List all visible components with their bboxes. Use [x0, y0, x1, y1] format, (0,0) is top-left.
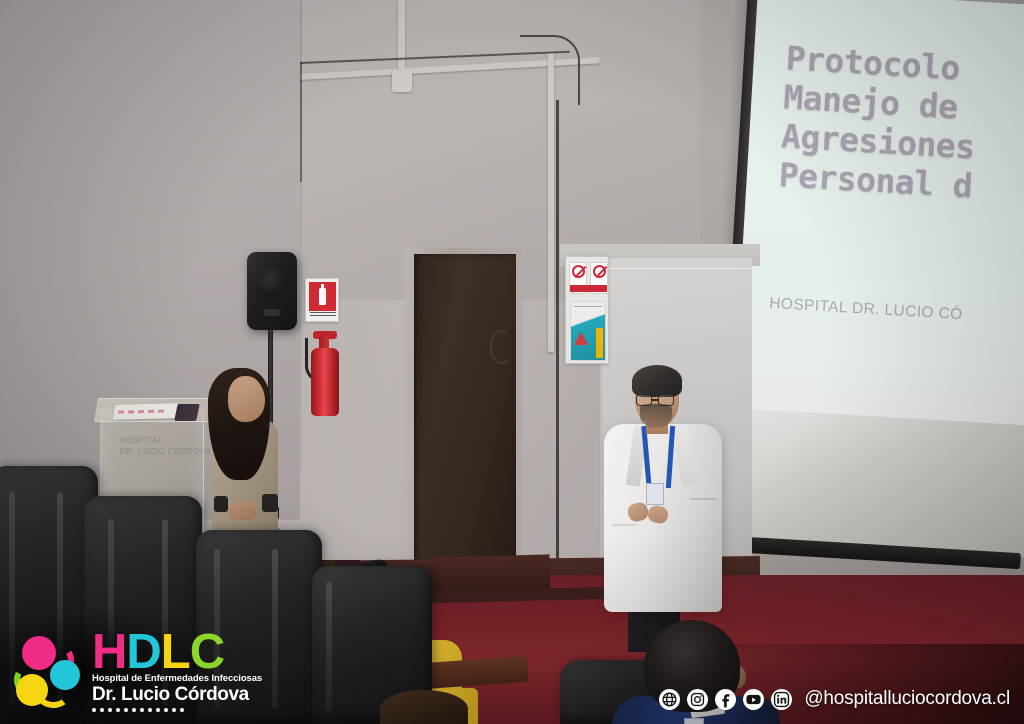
facebook-icon[interactable]: [715, 689, 736, 710]
id-badge: [684, 718, 704, 724]
hdlc-hospital-name: Dr. Lucio Córdova: [92, 684, 262, 705]
hdlc-tagline: Hospital de Enfermedades Infecciosas: [92, 673, 262, 684]
projection-screen: Protocolo Manejo de Agresiones Personal …: [712, 0, 1024, 605]
coat-pocket: [612, 524, 636, 526]
ceiling-conduit-vertical: [398, 0, 405, 78]
wall-cable-drop: [300, 62, 302, 182]
fire-extinguisher: [311, 348, 339, 416]
instagram-icon[interactable]: [687, 689, 708, 710]
speaker-tweeter: [264, 309, 280, 316]
fire-extinguisher-sign: [305, 278, 339, 322]
blazer-cuff: [214, 496, 228, 512]
podium-papers: [112, 403, 177, 420]
speaker-cone: [257, 268, 287, 298]
blazer-cuff: [262, 494, 278, 512]
podium-engraved-line-1: HOSPITAL: [120, 436, 184, 445]
conduit-junction-box: [392, 70, 412, 92]
social-handle-text: @hospitalluciocordova.cl: [804, 688, 1010, 710]
hdlc-logo: H D L C Hospital de Enfermedades Infecci…: [10, 628, 262, 712]
whiteboard-edge: [600, 268, 752, 269]
hdlc-acronym: H D L C: [92, 630, 262, 674]
person-audience-partial-hair: [380, 690, 468, 724]
slide-title: Protocolo Manejo de Agresiones Personal …: [778, 38, 1024, 213]
presentation-photo: Protocolo Manejo de Agresiones Personal …: [0, 0, 1024, 724]
info-poster: [570, 301, 606, 361]
hdlc-letter-l: L: [161, 630, 190, 674]
globe-icon[interactable]: [659, 689, 680, 710]
stage-riser: [430, 554, 551, 593]
podium-mobile-phone: [174, 404, 200, 421]
hdlc-letter-h: H: [92, 630, 126, 674]
prohibition-signs: [569, 262, 608, 294]
coat-pocket: [690, 498, 716, 500]
pa-speaker: [247, 252, 297, 330]
youtube-icon[interactable]: [743, 689, 764, 710]
hair: [632, 365, 682, 397]
linkedin-icon[interactable]: [771, 689, 792, 710]
ceiling-cable-bend: [520, 35, 580, 105]
hdlc-dot-row: [92, 708, 262, 712]
safety-signage-board: [565, 256, 609, 364]
podium-engraved-line-2: DR. LUCIO CORDOVA: [120, 447, 184, 456]
room-door[interactable]: [414, 254, 516, 580]
hdlc-logo-text: H D L C Hospital de Enfermedades Infecci…: [92, 628, 262, 712]
beard: [640, 404, 672, 428]
id-badge: [646, 483, 664, 505]
hdlc-letter-c: C: [190, 630, 224, 674]
face: [237, 380, 265, 420]
door-handle-icon[interactable]: [490, 330, 512, 364]
hands: [228, 502, 256, 520]
social-media-bar: @hospitalluciocordova.cl: [659, 688, 1010, 710]
no-mobile-phone-icon: [590, 262, 608, 294]
wall-cable-drop: [556, 100, 559, 580]
hdlc-logo-mark-icon: [10, 630, 84, 710]
podium-engraved-logo: HOSPITAL DR. LUCIO CORDOVA: [120, 436, 184, 462]
eyeglasses-icon: [636, 394, 678, 406]
hdlc-letter-d: D: [126, 630, 160, 674]
